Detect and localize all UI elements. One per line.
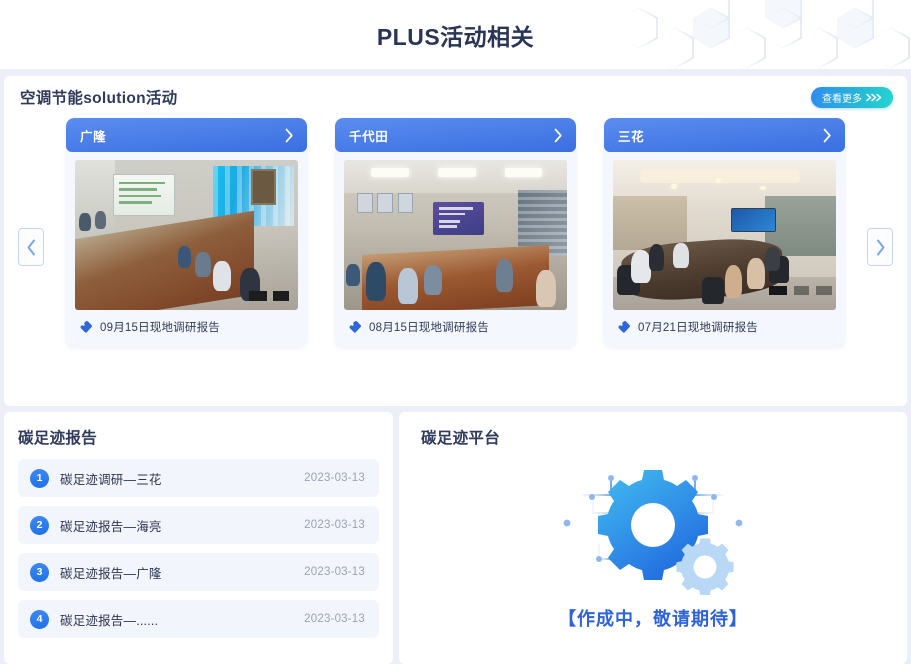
activity-card-header[interactable]: 三花 bbox=[604, 118, 845, 152]
list-item-date: 2023-03-13 bbox=[304, 519, 365, 531]
activity-photo[interactable] bbox=[75, 160, 298, 310]
list-item-date: 2023-03-13 bbox=[304, 613, 365, 625]
activity-card-company: 广隆 bbox=[80, 126, 106, 145]
platform-status-text: 【作成中，敬请期待】 bbox=[558, 605, 748, 631]
activity-carousel: 广隆 bbox=[4, 118, 907, 347]
list-item-index: 3 bbox=[30, 563, 49, 582]
tag-icon bbox=[348, 320, 362, 334]
chevron-right-icon bbox=[875, 239, 886, 256]
activity-caption-text: 08月15日现地调研报告 bbox=[369, 319, 489, 335]
chevron-right-icon bbox=[285, 128, 294, 143]
triple-chevron-right-icon bbox=[866, 93, 883, 102]
bottom-row: 碳足迹报告 1 碳足迹调研—三花 2023-03-13 2 碳足迹报告—海亮 2… bbox=[4, 412, 907, 664]
tag-icon bbox=[617, 320, 631, 334]
activity-card-list: 广隆 bbox=[66, 118, 845, 347]
activity-section-title: 空调节能solution活动 bbox=[20, 86, 177, 108]
activity-photo[interactable] bbox=[344, 160, 567, 310]
list-item-index: 1 bbox=[30, 469, 49, 488]
gear-circuit-icon bbox=[519, 467, 787, 595]
page-header: PLUS活动相关 bbox=[0, 0, 911, 70]
activity-dashboard-page: PLUS活动相关 空调节能solution活动 查看更多 广隆 bbox=[0, 0, 911, 664]
chevron-right-icon bbox=[554, 128, 563, 143]
activity-section-header: 空调节能solution活动 查看更多 bbox=[4, 76, 907, 118]
carbon-platform-title: 碳足迹平台 bbox=[399, 426, 907, 448]
list-item-title: 碳足迹调研—三花 bbox=[60, 469, 304, 488]
chevron-left-icon bbox=[26, 239, 37, 256]
page-title: PLUS活动相关 bbox=[0, 18, 911, 52]
view-more-button[interactable]: 查看更多 bbox=[811, 87, 893, 108]
activity-card-header[interactable]: 千代田 bbox=[335, 118, 576, 152]
activity-photo[interactable] bbox=[613, 160, 836, 310]
carbon-platform-panel: 碳足迹平台 bbox=[399, 412, 907, 664]
activity-card[interactable]: 广隆 bbox=[66, 118, 307, 347]
list-item-date: 2023-03-13 bbox=[304, 566, 365, 578]
activity-card[interactable]: 千代田 bbox=[335, 118, 576, 347]
activity-caption-row: 07月21日现地调研报告 bbox=[613, 310, 836, 345]
list-item-title: 碳足迹报告—...... bbox=[60, 610, 304, 629]
carbon-platform-body: 【作成中，敬请期待】 bbox=[399, 459, 907, 631]
list-item-index: 2 bbox=[30, 516, 49, 535]
tag-icon bbox=[79, 320, 93, 334]
activity-caption-row: 09月15日现地调研报告 bbox=[75, 310, 298, 345]
activity-section: 空调节能solution活动 查看更多 广隆 bbox=[4, 76, 907, 406]
activity-caption-text: 07月21日现地调研报告 bbox=[638, 319, 758, 335]
list-item-index: 4 bbox=[30, 610, 49, 629]
activity-caption-row: 08月15日现地调研报告 bbox=[344, 310, 567, 345]
carousel-prev-button[interactable] bbox=[18, 228, 44, 266]
list-item-date: 2023-03-13 bbox=[304, 472, 365, 484]
activity-card-body: 09月15日现地调研报告 bbox=[66, 152, 307, 345]
list-item[interactable]: 3 碳足迹报告—广隆 2023-03-13 bbox=[18, 553, 379, 591]
activity-card-company: 三花 bbox=[618, 126, 644, 145]
list-item[interactable]: 4 碳足迹报告—...... 2023-03-13 bbox=[18, 600, 379, 638]
activity-card-company: 千代田 bbox=[349, 126, 388, 145]
view-more-label: 查看更多 bbox=[822, 90, 862, 105]
carbon-reports-list: 1 碳足迹调研—三花 2023-03-13 2 碳足迹报告—海亮 2023-03… bbox=[18, 459, 379, 638]
activity-caption-text: 09月15日现地调研报告 bbox=[100, 319, 220, 335]
activity-card[interactable]: 三花 bbox=[604, 118, 845, 347]
activity-card-body: 08月15日现地调研报告 bbox=[335, 152, 576, 345]
carbon-reports-title: 碳足迹报告 bbox=[18, 426, 379, 448]
list-item-title: 碳足迹报告—广隆 bbox=[60, 563, 304, 582]
carousel-next-button[interactable] bbox=[867, 228, 893, 266]
chevron-right-icon bbox=[823, 128, 832, 143]
activity-card-header[interactable]: 广隆 bbox=[66, 118, 307, 152]
carbon-reports-panel: 碳足迹报告 1 碳足迹调研—三花 2023-03-13 2 碳足迹报告—海亮 2… bbox=[4, 412, 393, 664]
list-item[interactable]: 1 碳足迹调研—三花 2023-03-13 bbox=[18, 459, 379, 497]
activity-card-body: 07月21日现地调研报告 bbox=[604, 152, 845, 345]
list-item-title: 碳足迹报告—海亮 bbox=[60, 516, 304, 535]
list-item[interactable]: 2 碳足迹报告—海亮 2023-03-13 bbox=[18, 506, 379, 544]
